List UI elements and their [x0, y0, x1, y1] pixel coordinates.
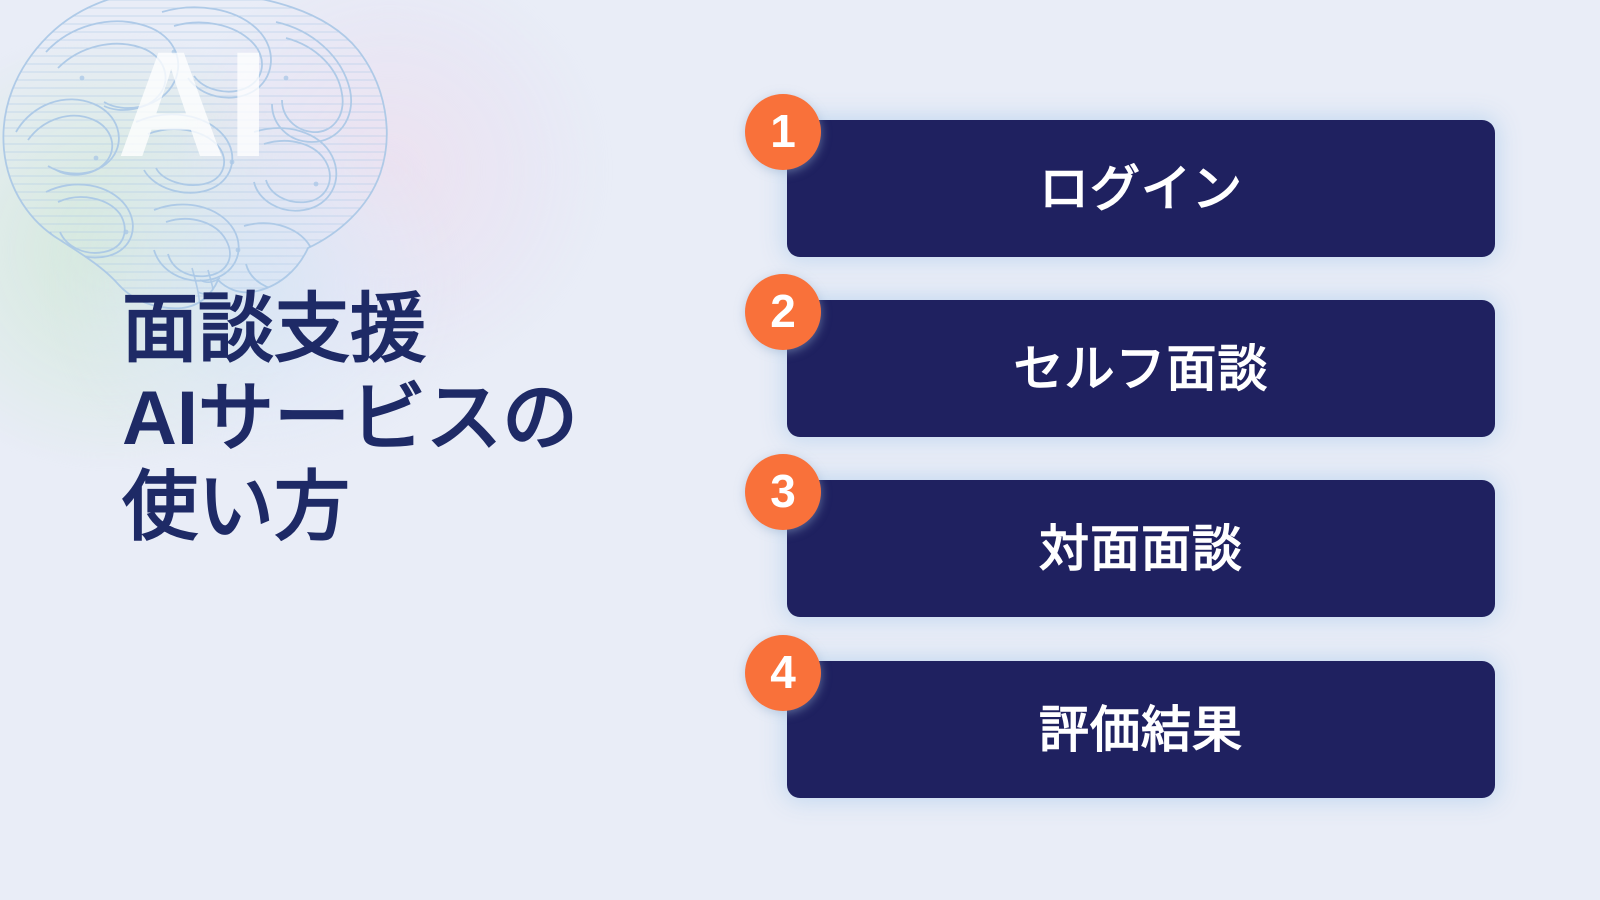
brain-line-art-icon: AI — [0, 0, 416, 312]
step-number-3: 3 — [770, 468, 796, 514]
step-bar-3[interactable]: 対面面談 — [787, 480, 1495, 617]
step-label-4: 評価結果 — [1039, 705, 1243, 755]
step-number-1: 1 — [770, 108, 796, 154]
step-badge-4: 4 — [745, 635, 821, 711]
step-label-1: ログイン — [1039, 164, 1243, 214]
step-number-2: 2 — [770, 288, 796, 334]
step-bar-2[interactable]: セルフ面談 — [787, 300, 1495, 437]
page-title: 面談支援 AIサービスの 使い方 — [122, 286, 722, 553]
step-label-3: 対面面談 — [1039, 524, 1243, 574]
step-label-2: セルフ面談 — [1014, 344, 1269, 394]
step-number-4: 4 — [770, 649, 796, 695]
step-list: ログイン 1 セルフ面談 2 対面面談 3 評価結果 — [745, 94, 1545, 824]
step-badge-2: 2 — [745, 274, 821, 350]
brain-ai-overlay-text: AI — [94, 14, 294, 194]
step-bar-4[interactable]: 評価結果 — [787, 661, 1495, 798]
step-bar-1[interactable]: ログイン — [787, 120, 1495, 257]
step-badge-3: 3 — [745, 454, 821, 530]
slide-canvas: AI 面談支援 AIサービスの 使い方 ログイン 1 セルフ面談 2 対面面談 — [0, 0, 1600, 900]
step-badge-1: 1 — [745, 94, 821, 170]
